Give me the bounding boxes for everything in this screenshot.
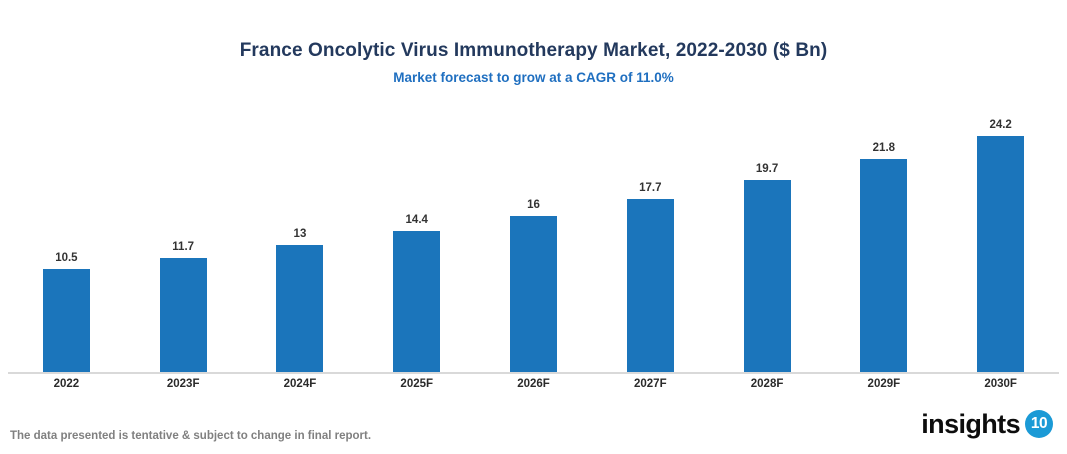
bar-group[interactable]: 16 bbox=[475, 100, 592, 372]
plot-area: 10.511.71314.41617.719.721.824.2 bbox=[0, 100, 1067, 374]
bar-group[interactable]: 10.5 bbox=[8, 100, 125, 372]
x-axis-line bbox=[8, 372, 1059, 374]
x-axis-tick-label: 2025F bbox=[358, 376, 475, 392]
bar-rect[interactable] bbox=[43, 269, 90, 372]
bar-series: 10.511.71314.41617.719.721.824.2 bbox=[8, 100, 1059, 372]
x-axis-tick-label: 2026F bbox=[475, 376, 592, 392]
bar-group[interactable]: 24.2 bbox=[942, 100, 1059, 372]
bar-rect[interactable] bbox=[160, 258, 207, 372]
bar-value-label: 19.7 bbox=[756, 163, 778, 176]
disclaimer-text: The data presented is tentative & subjec… bbox=[10, 428, 371, 444]
chart-subtitle: Market forecast to grow at a CAGR of 11.… bbox=[0, 68, 1067, 88]
bar-group[interactable]: 21.8 bbox=[825, 100, 942, 372]
bar-rect[interactable] bbox=[276, 245, 323, 372]
x-axis-tick-label: 2030F bbox=[942, 376, 1059, 392]
bar-value-label: 10.5 bbox=[55, 252, 77, 265]
bar-value-label: 14.4 bbox=[406, 214, 428, 227]
bar-group[interactable]: 11.7 bbox=[125, 100, 242, 372]
bar-group[interactable]: 17.7 bbox=[592, 100, 709, 372]
bar-value-label: 13 bbox=[294, 228, 307, 241]
logo-wordmark: insights bbox=[921, 409, 1020, 439]
bar-group[interactable]: 19.7 bbox=[709, 100, 826, 372]
bar-rect[interactable] bbox=[627, 199, 674, 372]
x-axis-tick-label: 2028F bbox=[709, 376, 826, 392]
bar-value-label: 16 bbox=[527, 199, 540, 212]
x-axis-tick-label: 2024F bbox=[242, 376, 359, 392]
bar-group[interactable]: 14.4 bbox=[358, 100, 475, 372]
bar-rect[interactable] bbox=[510, 216, 557, 372]
chart-title: France Oncolytic Virus Immunotherapy Mar… bbox=[0, 38, 1067, 64]
bar-value-label: 24.2 bbox=[989, 119, 1011, 132]
bar-rect[interactable] bbox=[744, 180, 791, 372]
bar-group[interactable]: 13 bbox=[242, 100, 359, 372]
chart-header: France Oncolytic Virus Immunotherapy Mar… bbox=[0, 38, 1067, 88]
bar-value-label: 17.7 bbox=[639, 182, 661, 195]
x-axis-tick-labels: 20222023F2024F2025F2026F2027F2028F2029F2… bbox=[8, 376, 1059, 392]
bar-value-label: 11.7 bbox=[172, 241, 194, 254]
bar-rect[interactable] bbox=[393, 231, 440, 372]
x-axis-tick-label: 2022 bbox=[8, 376, 125, 392]
bar-rect[interactable] bbox=[860, 159, 907, 372]
x-axis-tick-label: 2023F bbox=[125, 376, 242, 392]
insights10-logo: insights 10 bbox=[921, 406, 1053, 442]
x-axis-tick-label: 2027F bbox=[592, 376, 709, 392]
logo-badge-icon: 10 bbox=[1025, 410, 1053, 438]
x-axis-tick-label: 2029F bbox=[825, 376, 942, 392]
bar-value-label: 21.8 bbox=[873, 142, 895, 155]
bar-rect[interactable] bbox=[977, 136, 1024, 372]
chart-container: France Oncolytic Virus Immunotherapy Mar… bbox=[0, 0, 1067, 454]
